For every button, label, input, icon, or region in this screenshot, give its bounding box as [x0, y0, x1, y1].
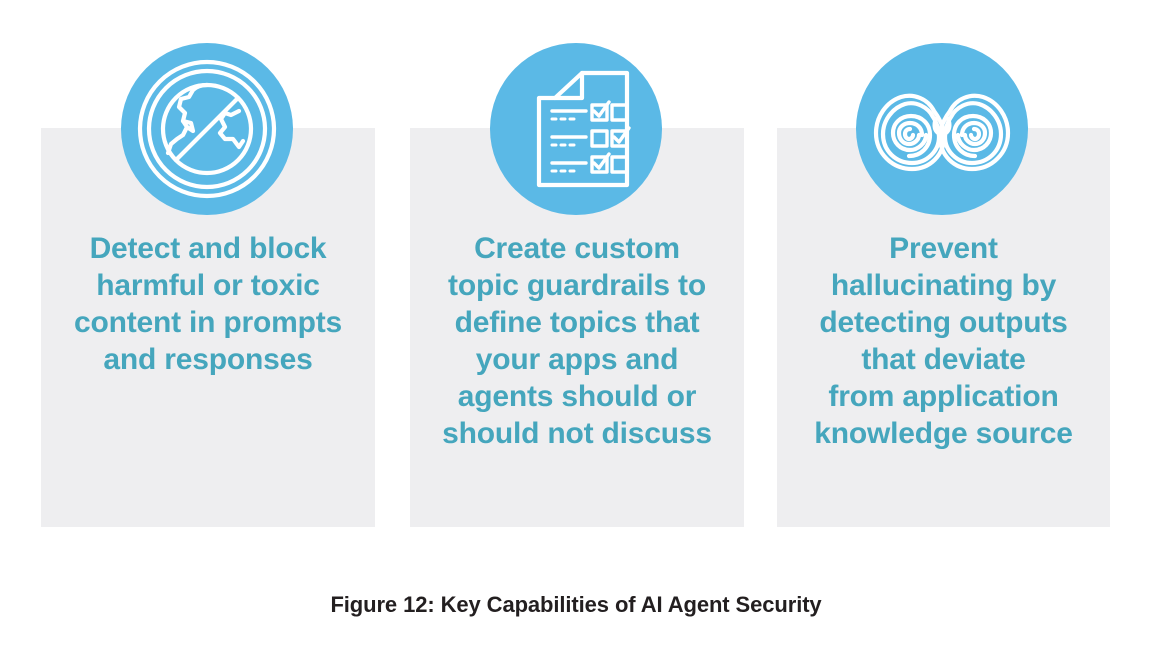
checklist-document-icon [490, 43, 662, 215]
spiral-binoculars-icon [856, 43, 1028, 215]
figure-caption: Figure 12: Key Capabilities of AI Agent … [0, 592, 1152, 618]
figure-container: Detect and block harmful or toxic conten… [0, 0, 1152, 648]
spiral-binoculars-icon-glyph [856, 43, 1028, 215]
prohibition-globe-icon [121, 43, 293, 215]
prohibition-globe-icon-glyph [121, 43, 293, 215]
capability-card-text: Create custom topic guardrails to define… [416, 230, 738, 452]
capability-card-text: Detect and block harmful or toxic conten… [47, 230, 369, 378]
checklist-document-icon-glyph [490, 43, 662, 215]
capability-card-text: Prevent hallucinating by detecting outpu… [783, 230, 1104, 452]
